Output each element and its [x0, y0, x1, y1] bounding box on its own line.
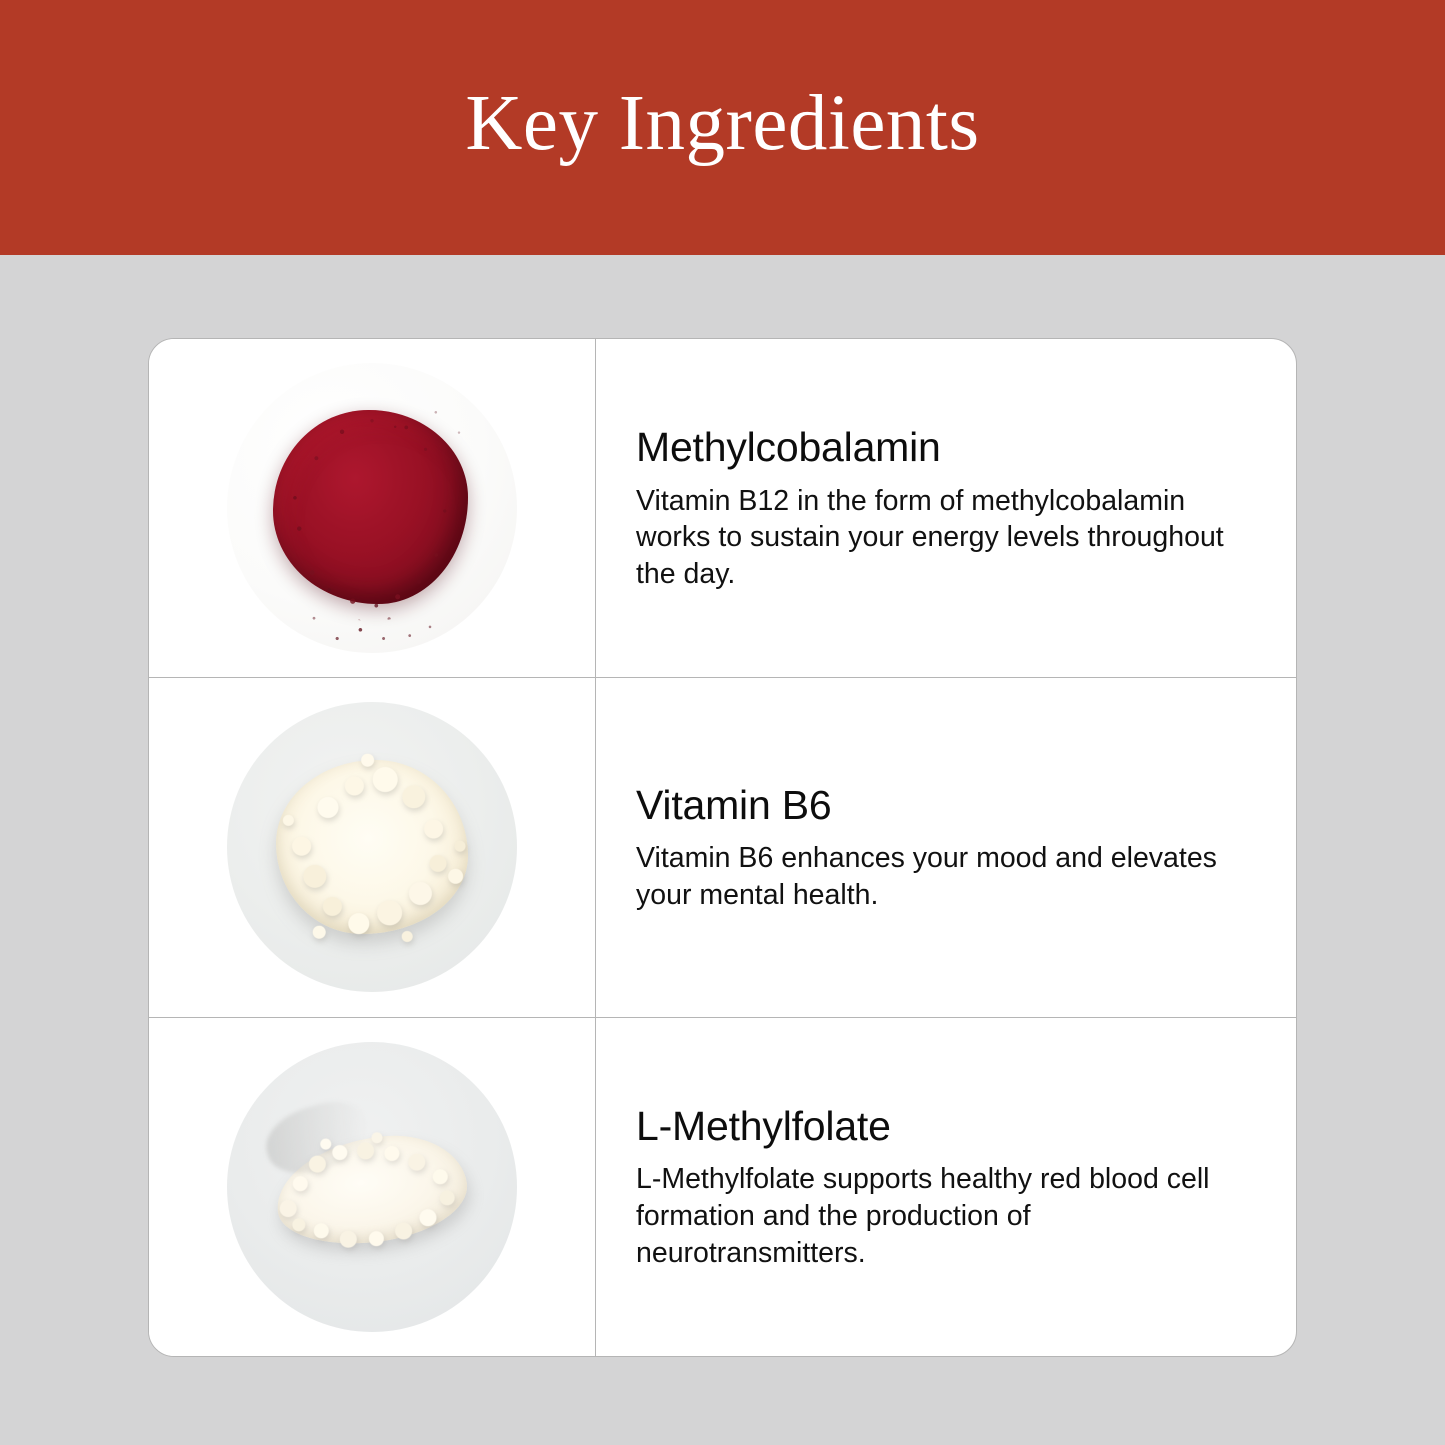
page-title: Key Ingredients	[465, 84, 979, 163]
ingredient-row-vitamin-b6: Vitamin B6 Vitamin B6 enhances your mood…	[149, 677, 1296, 1016]
page-header-band: Key Ingredients	[0, 0, 1445, 255]
ingredient-name-methylcobalamin: Methylcobalamin	[636, 423, 1240, 471]
ingredient-name-vitamin-b6: Vitamin B6	[636, 781, 1240, 829]
ingredient-description-vitamin-b6: Vitamin B6 enhances your mood and elevat…	[636, 840, 1236, 914]
ingredient-text-cell-1: Methylcobalamin Vitamin B12 in the form …	[596, 339, 1296, 677]
key-ingredients-page: Key Ingredients Methylcobalamin Vitamin …	[0, 0, 1445, 1445]
powder-speckles-decoration	[227, 363, 517, 653]
ingredient-image-cell-3	[149, 1018, 596, 1356]
powder-shadow-decoration	[258, 1092, 376, 1182]
ingredient-description-l-methylfolate: L-Methylfolate supports healthy red bloo…	[636, 1161, 1240, 1271]
ingredient-text-cell-3: L-Methylfolate L-Methylfolate supports h…	[596, 1018, 1296, 1356]
vitamin-b6-powder-image	[227, 702, 517, 992]
ingredient-text-cell-2: Vitamin B6 Vitamin B6 enhances your mood…	[596, 678, 1296, 1016]
ingredient-row-methylcobalamin: Methylcobalamin Vitamin B12 in the form …	[149, 339, 1296, 677]
ingredient-row-l-methylfolate: L-Methylfolate L-Methylfolate supports h…	[149, 1017, 1296, 1356]
ingredient-name-l-methylfolate: L-Methylfolate	[636, 1102, 1240, 1150]
ingredient-image-cell-1	[149, 339, 596, 677]
ingredient-image-cell-2	[149, 678, 596, 1016]
ingredients-card: Methylcobalamin Vitamin B12 in the form …	[148, 338, 1297, 1357]
l-methylfolate-powder-image	[227, 1042, 517, 1332]
methylcobalamin-powder-image	[227, 363, 517, 653]
ingredient-description-methylcobalamin: Vitamin B12 in the form of methylcobalam…	[636, 483, 1236, 593]
